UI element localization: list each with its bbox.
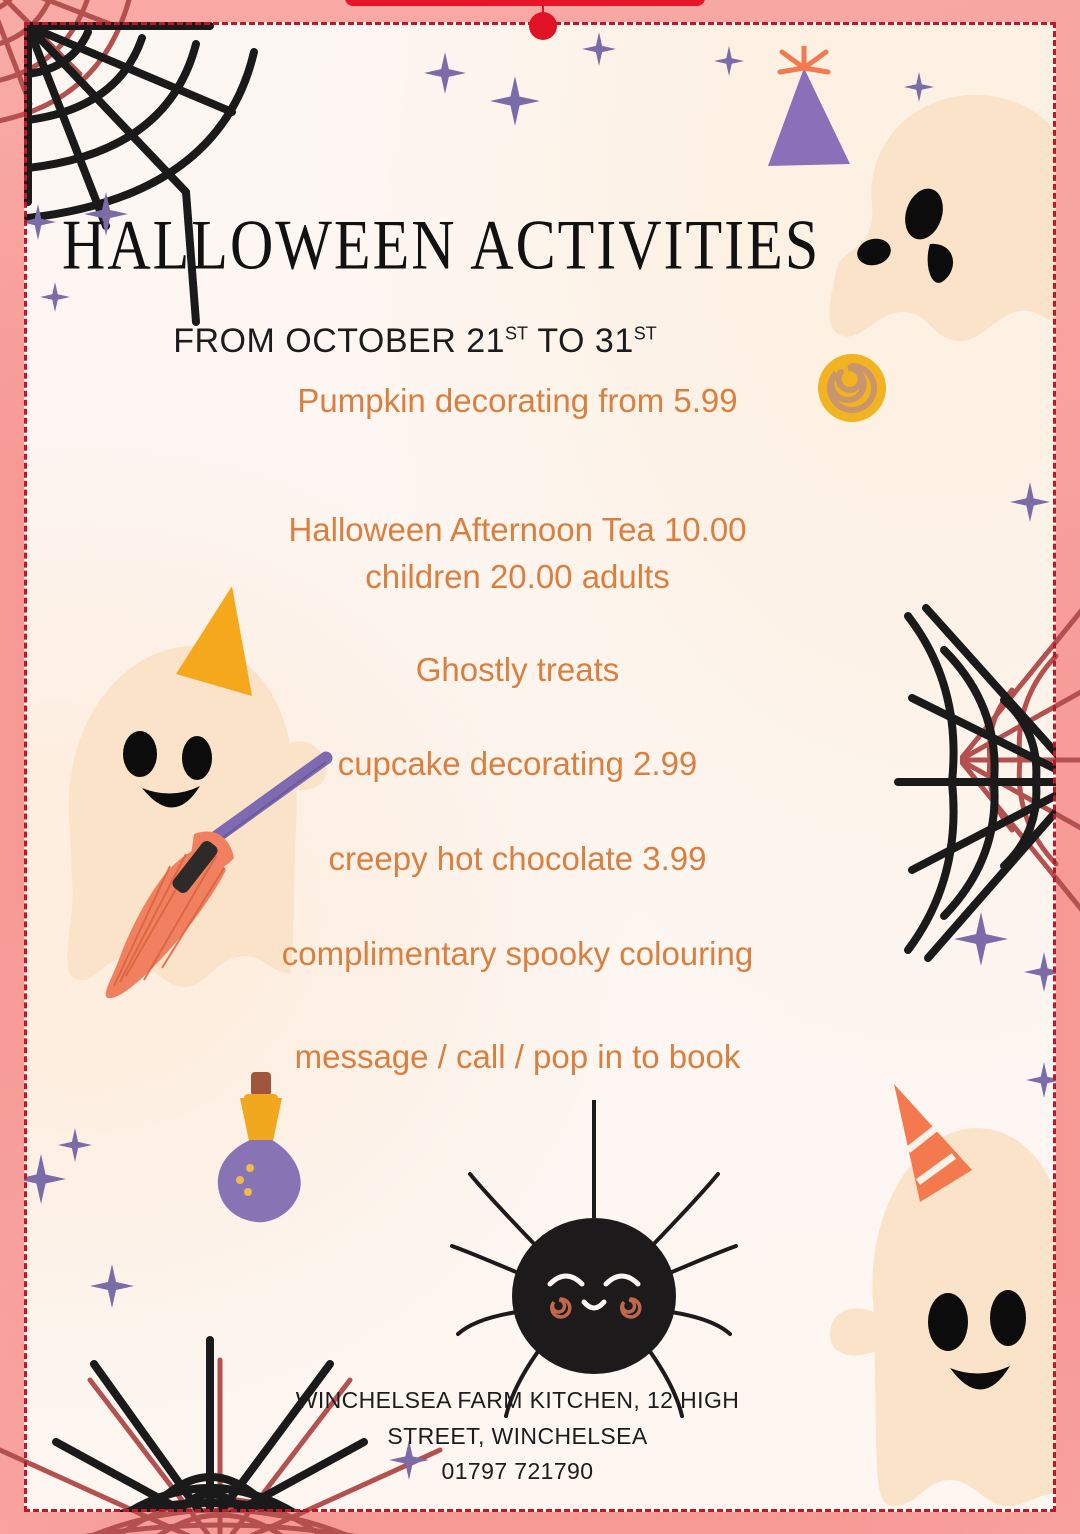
- spacer: [0, 601, 1035, 647]
- list-item: children 20.00 adults: [0, 554, 1035, 601]
- call-to-action-text: message / call / pop in to book: [0, 1038, 1035, 1076]
- list-item: complimentary spooky colouring: [0, 931, 1035, 978]
- spacer: [0, 883, 1035, 931]
- spacer: [0, 425, 1035, 507]
- activities-list: Pumpkin decorating from 5.99 Halloween A…: [0, 378, 1035, 978]
- red-ornament-dot: [529, 12, 557, 40]
- phone-number: 01797 721790: [0, 1454, 1035, 1490]
- date-range-line: FROM OCTOBER 21ST TO 31ST: [0, 322, 830, 361]
- list-item: Halloween Afternoon Tea 10.00: [0, 507, 1035, 554]
- halloween-poster: HALLOWEEN ACTIVITIES FROM OCTOBER 21ST T…: [0, 0, 1080, 1534]
- address-line-1: WINCHELSEA FARM KITCHEN, 12 HIGH: [0, 1383, 1035, 1419]
- date-ordinal-second: ST: [634, 324, 657, 344]
- date-prefix: FROM OCTOBER 21: [173, 322, 505, 360]
- poster-text-content: HALLOWEEN ACTIVITIES FROM OCTOBER 21ST T…: [0, 0, 1080, 1534]
- date-ordinal-first: ST: [505, 324, 528, 344]
- spacer: [0, 788, 1035, 836]
- page-title: HALLOWEEN ACTIVITIES: [62, 205, 822, 286]
- list-item: Pumpkin decorating from 5.99: [0, 378, 1035, 425]
- address-block: WINCHELSEA FARM KITCHEN, 12 HIGH STREET,…: [0, 1383, 1035, 1490]
- date-middle: TO 31: [528, 322, 634, 360]
- address-line-2: STREET, WINCHELSEA: [0, 1419, 1035, 1455]
- list-item: creepy hot chocolate 3.99: [0, 836, 1035, 883]
- list-item: cupcake decorating 2.99: [0, 741, 1035, 788]
- list-item: Ghostly treats: [0, 647, 1035, 694]
- spacer: [0, 693, 1035, 741]
